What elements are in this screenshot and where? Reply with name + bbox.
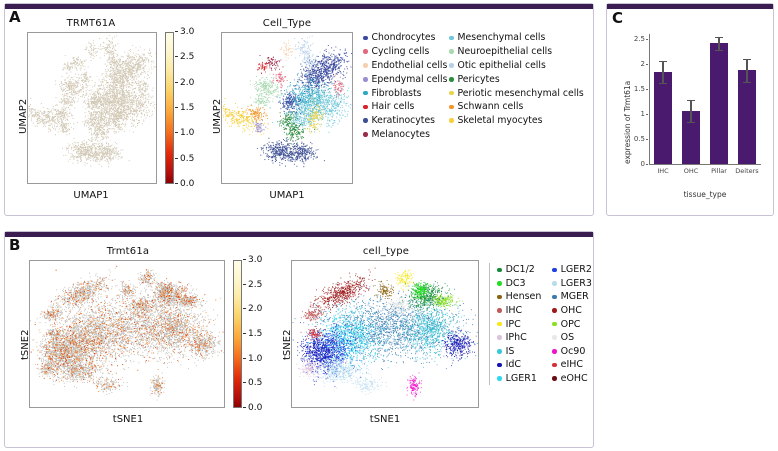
legend-color-dot [497,349,502,354]
colorbar-tick-label: 0.0 [175,179,194,189]
bar-ihc[interactable] [654,72,672,164]
legend-item-label: Ependymal cells [372,74,448,85]
colorbar-tick-label: 0.5 [175,154,194,164]
legend-item[interactable]: Cycling cells [363,45,449,59]
colorbar-tick-label: 1.5 [175,103,194,113]
panel-b-colorbar [233,260,242,408]
legend-item-label: LGER1 [506,373,537,384]
legend-color-dot [363,63,368,68]
legend-item-label: Hair cells [372,101,415,112]
legend-item-label: MGER [561,291,589,302]
panel-b-tsne-expression-plot[interactable] [29,260,225,408]
legend-item[interactable]: IdC [497,358,552,372]
legend-item[interactable]: eIHC [552,358,592,372]
colorbar-tick-label: 3.0 [243,255,262,265]
legend-item[interactable]: IS [497,345,552,359]
legend-item[interactable]: Schwann cells [449,100,584,114]
legend-item-label: Neuroepithelial cells [458,46,553,57]
panel-a-umap-expression-plot[interactable] [27,32,157,184]
legend-item-label: IPC [506,319,521,330]
legend-item[interactable]: Hair cells [363,100,449,114]
legend-item-label: DC1/2 [506,264,535,275]
bar-chart-plot-area[interactable]: 00.511.522.5IHCOHCPillarDeiters [649,34,761,164]
legend-item-label: Schwann cells [458,101,524,112]
colorbar-tick-label: 1.0 [175,128,194,138]
legend-column: LGER2LGER3MGEROHCOPCOSOc90eIHCeOHC [552,263,592,385]
panel-b-accent-bar [5,232,593,237]
panel-b-right-title: cell_type [291,246,481,257]
legend-item-label: Fibroblasts [372,88,422,99]
legend-color-dot [363,77,368,82]
error-bar-pillar [718,37,719,50]
panel-b-left-title: Trmt61a [33,246,223,257]
legend-color-dot [363,36,368,41]
panel-a-left-title: TRMT61A [23,18,159,29]
panel-c-accent-bar [607,4,773,9]
colorbar-tick-label: 1.5 [243,329,262,339]
panel-a-umap-celltype-plot[interactable] [221,32,353,184]
bar-chart-x-tick-deiters: Deiters [733,167,761,175]
bar-chart-x-axis [649,164,761,165]
legend-item-label: OS [561,332,575,343]
legend-item-label: LGER2 [561,264,592,275]
legend-color-dot [449,77,454,82]
figure-root: A TRMT61A UMAP2 UMAP1 3.02.52.01.51.00.5… [0,0,778,451]
legend-item[interactable]: Fibroblasts [363,86,449,100]
legend-color-dot [449,36,454,41]
bar-chart-y-tick-label: 2.5 [627,35,645,43]
legend-item-label: Hensen [506,291,542,302]
legend-item-label: eOHC [561,373,588,384]
legend-color-dot [497,295,502,300]
scatter-points [28,33,157,184]
bar-chart-y-tick-label: 2 [627,60,645,68]
legend-item-label: Melanocytes [372,129,430,140]
legend-color-dot [449,91,454,96]
legend-item-label: LGER3 [561,278,592,289]
bar-chart-x-tick-pillar: Pillar [705,167,733,175]
legend-color-dot [449,118,454,123]
panel-a-accent-bar [5,4,593,9]
legend-item[interactable]: MGER [552,290,592,304]
legend-item[interactable]: OPC [552,317,592,331]
error-cap-lower-pillar [715,50,723,51]
legend-item[interactable]: DC1/2 [497,263,552,277]
legend-item[interactable]: Oc90 [552,345,592,359]
panel-c-letter: C [612,11,623,26]
panel-a-letter: A [9,10,21,25]
bar-chart-y-tick-label: 0.5 [627,135,645,143]
error-cap-lower-deiters [743,82,751,83]
legend-color-dot [552,308,557,313]
legend-item-label: Pericytes [458,74,500,85]
colorbar-tick-label: 3.0 [175,27,194,37]
bar-chart-y-tick-label: 0 [627,160,645,168]
legend-color-dot [449,105,454,110]
panel-b-right-xlabel: tSNE1 [291,414,479,425]
legend-item-label: Otic epithelial cells [458,60,546,71]
panel-a-colorbar-ticks: 3.02.52.01.51.00.50.0 [175,32,205,184]
legend-color-dot [497,281,502,286]
legend-color-dot [497,308,502,313]
legend-column: ChondrocytesCycling cellsEndothelial cel… [363,31,449,141]
legend-column: DC1/2DC3HensenIHCIPCIPhCISIdCLGER1 [497,263,552,385]
colorbar-tick-label: 2.0 [243,304,262,314]
legend-item-label: DC3 [506,278,526,289]
bar-deiters[interactable] [738,70,756,164]
legend-item[interactable]: LGER3 [552,277,592,291]
error-cap-upper-pillar [715,37,723,38]
error-cap-upper-ohc [687,100,695,101]
panel-a-legend: ChondrocytesCycling cellsEndothelial cel… [363,31,584,141]
colorbar-tick-label: 0.5 [243,378,262,388]
error-cap-upper-deiters [743,59,751,60]
legend-item-label: Chondrocytes [372,32,436,43]
legend-item[interactable]: LGER1 [497,372,552,386]
legend-color-dot [552,268,557,273]
bar-chart-x-tick-ohc: OHC [677,167,705,175]
legend-item-label: IS [506,346,515,357]
bar-chart-x-tick-ihc: IHC [649,167,677,175]
legend-item[interactable]: Hensen [497,290,552,304]
legend-color-dot [449,63,454,68]
legend-color-dot [552,335,557,340]
panel-a-colorbar [165,32,174,184]
panel-a-right-title: Cell_Type [217,18,357,29]
legend-item[interactable]: Chondrocytes [363,31,449,45]
legend-item[interactable]: Neuroepithelial cells [449,45,584,59]
legend-item-label: OHC [561,305,582,316]
legend-color-dot [552,349,557,354]
legend-item[interactable]: Ependymal cells [363,72,449,86]
legend-item[interactable]: Endothelial cells [363,59,449,73]
legend-color-dot [363,105,368,110]
legend-color-dot [497,335,502,340]
bar-pillar[interactable] [710,43,728,164]
legend-item[interactable]: IHC [497,304,552,318]
colorbar-tick-label: 2.0 [175,78,194,88]
legend-color-dot [552,281,557,286]
error-cap-lower-ihc [659,83,667,84]
legend-item-label: Cycling cells [372,46,430,57]
legend-item[interactable]: OS [552,331,592,345]
legend-item[interactable]: Otic epithelial cells [449,59,584,73]
panel-b-tsne-celltype-plot[interactable] [291,260,479,408]
bar-chart-y-tick-label: 1.5 [627,85,645,93]
legend-item-label: Skeletal myocytes [458,115,543,126]
colorbar-tick-label: 0.0 [243,403,262,413]
panel-b-left-xlabel: tSNE1 [33,414,223,425]
legend-item-label: Endothelial cells [372,60,448,71]
bar-chart-y-tick-label: 1 [627,110,645,118]
error-cap-upper-ihc [659,61,667,62]
legend-item-label: Periotic mesenchymal cells [458,88,584,99]
colorbar-tick-label: 2.5 [175,52,194,62]
legend-column: Mesenchymal cellsNeuroepithelial cellsOt… [449,31,584,141]
legend-item-label: Oc90 [561,346,586,357]
bar-chart-xlabel: tissue_type [649,190,761,199]
colorbar-tick-label: 2.5 [243,280,262,290]
legend-color-dot [552,376,557,381]
colorbar-tick-label: 1.0 [243,354,262,364]
legend-color-dot [552,363,557,368]
legend-color-dot [497,376,502,381]
error-bar-deiters [746,59,747,82]
legend-color-dot [449,49,454,54]
legend-color-dot [363,118,368,123]
legend-color-dot [497,322,502,327]
scatter-points [292,261,479,408]
legend-color-dot [552,322,557,327]
legend-item[interactable]: Mesenchymal cells [449,31,584,45]
legend-item-label: Keratinocytes [372,115,436,126]
legend-item[interactable]: Periotic mesenchymal cells [449,86,584,100]
legend-item[interactable]: LGER2 [552,263,592,277]
legend-item-label: Mesenchymal cells [458,32,546,43]
legend-color-dot [363,49,368,54]
legend-item-label: IdC [506,359,521,370]
panel-b: B Trmt61a tSNE2 tSNE1 3.02.52.01.51.00.5… [4,231,594,448]
legend-item[interactable]: IPhC [497,331,552,345]
scatter-points [222,33,353,184]
panel-a-right-xlabel: UMAP1 [217,190,357,201]
legend-item[interactable]: Pericytes [449,72,584,86]
legend-item[interactable]: Melanocytes [363,128,449,142]
error-bar-ihc [662,61,663,83]
legend-item[interactable]: Keratinocytes [363,114,449,128]
panel-a: A TRMT61A UMAP2 UMAP1 3.02.52.01.51.00.5… [4,3,594,216]
legend-item[interactable]: DC3 [497,277,552,291]
scatter-points [30,261,225,408]
legend-item[interactable]: eOHC [552,372,592,386]
legend-item[interactable]: Skeletal myocytes [449,114,584,128]
legend-item-label: eIHC [561,359,583,370]
error-cap-lower-ohc [687,122,695,123]
legend-color-dot [363,132,368,137]
legend-item-label: IHC [506,305,523,316]
legend-color-dot [552,295,557,300]
error-bar-ohc [690,100,691,122]
legend-item[interactable]: IPC [497,317,552,331]
bar-chart-ylabel: expression of Trmt61a [623,81,632,164]
panel-b-colorbar-ticks: 3.02.52.01.51.00.50.0 [243,260,273,408]
legend-color-dot [497,363,502,368]
bar-chart-y-axis [649,34,650,164]
legend-color-dot [363,91,368,96]
legend-item-label: OPC [561,319,581,330]
panel-c: C expression of Trmt61a 00.511.522.5IHCO… [606,3,774,216]
legend-item-label: IPhC [506,332,527,343]
panel-b-legend: DC1/2DC3HensenIHCIPCIPhCISIdCLGER1LGER2L… [489,263,592,385]
legend-item[interactable]: OHC [552,304,592,318]
legend-color-dot [497,268,502,273]
panel-b-letter: B [9,238,20,253]
panel-a-left-xlabel: UMAP1 [23,190,159,201]
